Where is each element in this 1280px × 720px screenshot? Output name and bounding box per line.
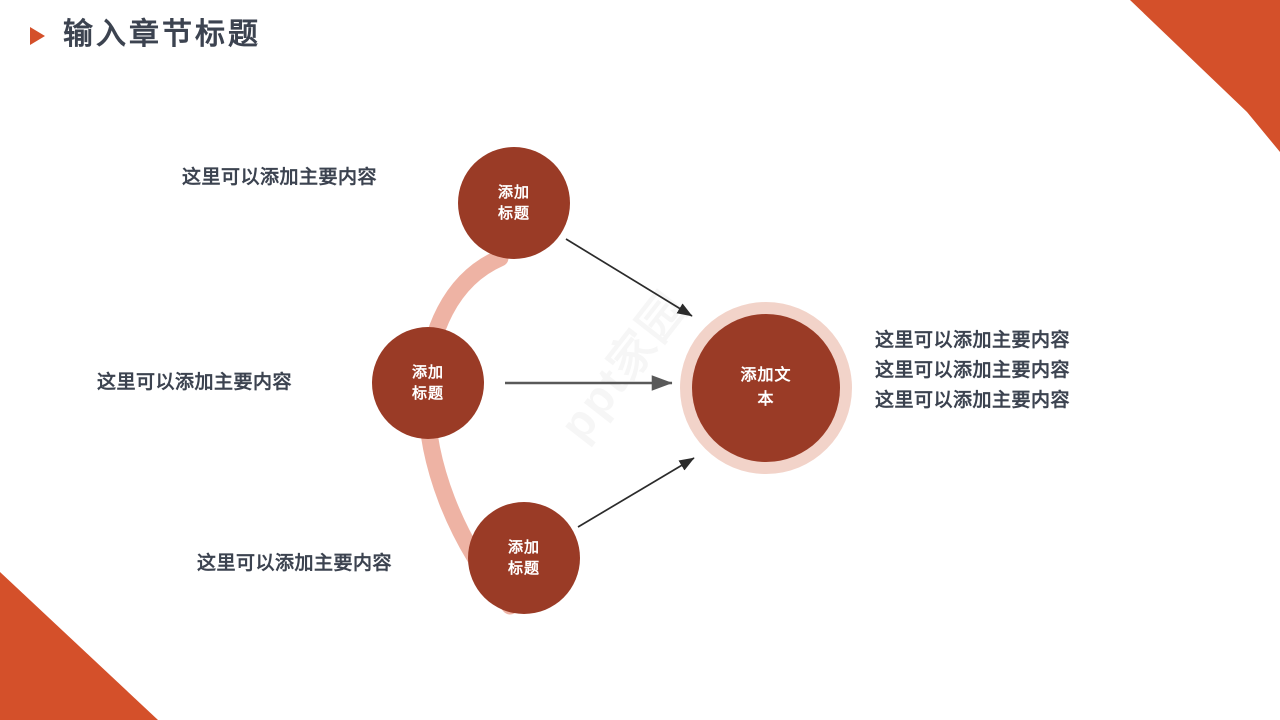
right-text-line-2: 这里可以添加主要内容 (875, 356, 1070, 386)
arrow-top-to-result (566, 239, 692, 316)
process-diagram (0, 0, 1280, 720)
arrow-bottom-to-result (578, 458, 694, 527)
slide-canvas: 输入章节标题 ppt家园 添加 标题 添加 标题 (0, 0, 1280, 720)
node-middle-circle[interactable] (372, 327, 484, 439)
node-bottom-circle[interactable] (468, 502, 580, 614)
left-label-middle: 这里可以添加主要内容 (97, 367, 292, 394)
left-label-bottom: 这里可以添加主要内容 (197, 548, 392, 575)
node-result-circle[interactable] (692, 314, 840, 462)
node-top-circle[interactable] (458, 147, 570, 259)
right-text-block: 这里可以添加主要内容 这里可以添加主要内容 这里可以添加主要内容 (875, 326, 1070, 416)
right-text-line-3: 这里可以添加主要内容 (875, 386, 1070, 416)
left-label-top: 这里可以添加主要内容 (182, 162, 377, 189)
right-text-line-1: 这里可以添加主要内容 (875, 326, 1070, 356)
